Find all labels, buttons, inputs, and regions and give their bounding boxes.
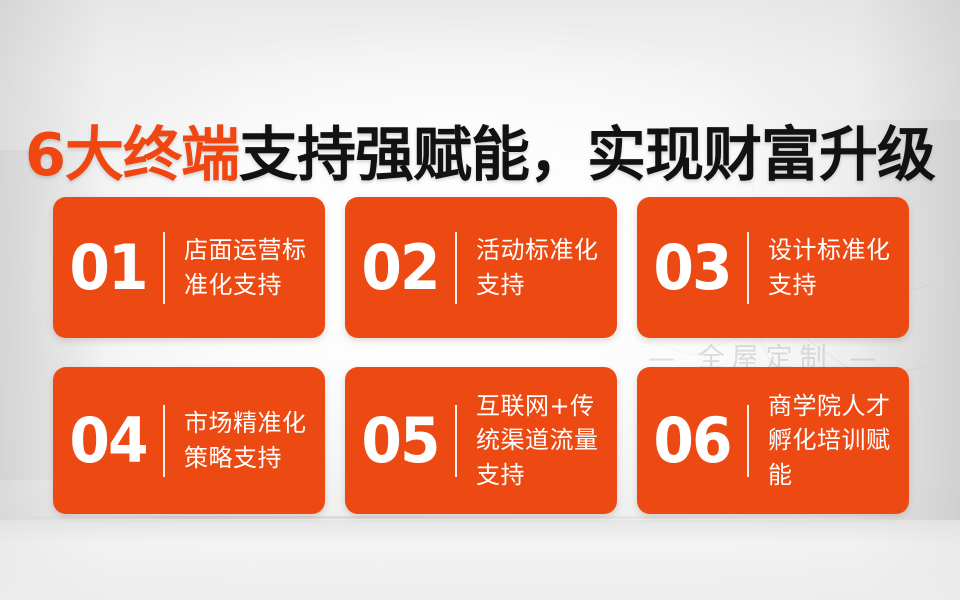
card-label: 商学院人才孵化培训赋能: [768, 389, 909, 491]
card-number: 05: [348, 410, 451, 472]
feature-card-grid: 01 店面运营标准化支持 02 活动标准化支持 03 设计标准化支持 04 市场…: [53, 197, 908, 514]
card-divider: [163, 232, 165, 304]
card-divider: [747, 232, 749, 304]
card-number: 04: [56, 410, 159, 472]
feature-card-01[interactable]: 01 店面运营标准化支持: [53, 197, 325, 338]
card-label: 市场精准化策略支持: [184, 406, 325, 474]
card-number: 01: [56, 237, 159, 299]
card-number: 06: [640, 410, 743, 472]
page-title-main: 支持强赋能，实现财富升级: [239, 120, 935, 189]
feature-card-05[interactable]: 05 互联网+传统渠道流量支持: [345, 367, 617, 514]
card-number: 02: [348, 237, 451, 299]
feature-card-06[interactable]: 06 商学院人才孵化培训赋能: [637, 367, 909, 514]
card-divider: [747, 405, 749, 477]
feature-card-04[interactable]: 04 市场精准化策略支持: [53, 367, 325, 514]
card-label: 互联网+传统渠道流量支持: [476, 389, 617, 491]
page-title-accent: 6大终端: [25, 120, 239, 189]
poster-root: — 全屋定制 — 6大终端支持强赋能，实现财富升级 01 店面运营标准化支持 0…: [0, 0, 960, 600]
card-label: 设计标准化支持: [768, 233, 909, 301]
card-label: 店面运营标准化支持: [184, 233, 325, 301]
card-divider: [455, 405, 457, 477]
background-shelf-line: [0, 516, 960, 519]
feature-card-03[interactable]: 03 设计标准化支持: [637, 197, 909, 338]
card-number: 03: [640, 237, 743, 299]
page-title: 6大终端支持强赋能，实现财富升级: [0, 124, 960, 186]
background-floor: [0, 520, 960, 600]
feature-card-02[interactable]: 02 活动标准化支持: [345, 197, 617, 338]
card-label: 活动标准化支持: [476, 233, 617, 301]
card-divider: [455, 232, 457, 304]
card-divider: [163, 405, 165, 477]
